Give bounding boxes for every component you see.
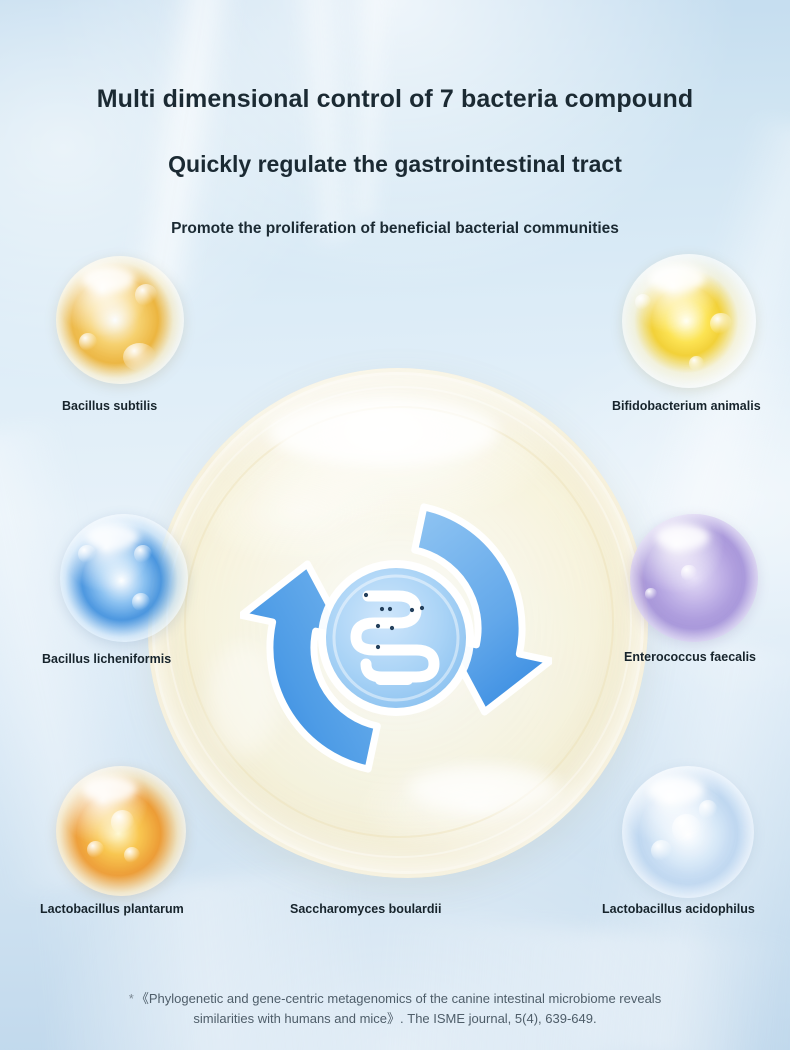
citation-line-1: 《Phylogenetic and gene-centric metagenom… <box>136 991 661 1006</box>
bacteria-sphere-enterococcus-faecalis <box>630 514 758 642</box>
sphere-bubble <box>124 847 141 864</box>
sphere-bubble <box>132 593 150 611</box>
bacteria-sphere-bacillus-subtilis <box>56 256 184 384</box>
bacteria-sphere-bifidobacterium-animalis <box>622 254 756 388</box>
probiotic-infographic-poster: Multi dimensional control of 7 bacteria … <box>0 0 790 1050</box>
bacteria-sphere-bacillus-licheniformis <box>60 514 188 642</box>
citation-line-2: similarities with humans and mice》. The … <box>193 1011 596 1026</box>
headline-secondary: Quickly regulate the gastrointestinal tr… <box>0 151 790 178</box>
sphere-highlight <box>86 524 140 550</box>
sphere-bubble <box>123 343 156 371</box>
sphere-highlight <box>648 777 703 803</box>
sphere-bubble <box>645 588 657 600</box>
label-lactobacillus-acidophilus: Lactobacillus acidophilus <box>602 902 755 916</box>
sphere-bubble <box>78 545 96 563</box>
sphere-highlight <box>656 524 710 550</box>
label-bacillus-licheniformis: Bacillus licheniformis <box>42 652 171 666</box>
label-bifidobacterium-animalis: Bifidobacterium animalis <box>612 399 761 413</box>
bacteria-sphere-lactobacillus-acidophilus <box>622 766 754 898</box>
sphere-bubble <box>79 333 97 351</box>
sphere-bubble <box>672 814 701 843</box>
label-saccharomyces-boulardii: Saccharomyces boulardii <box>290 902 441 916</box>
citation-marker: * <box>129 991 134 1006</box>
sphere-highlight <box>82 776 137 802</box>
bacteria-sphere-lactobacillus-plantarum <box>56 766 186 896</box>
sphere-bubble <box>710 313 731 334</box>
label-lactobacillus-plantarum: Lactobacillus plantarum <box>40 902 184 916</box>
sphere-bubble <box>135 284 157 306</box>
sphere-bubble <box>134 545 152 563</box>
citation: *《Phylogenetic and gene-centric metageno… <box>0 989 790 1029</box>
sphere-bubble <box>111 810 134 833</box>
sphere-bubble <box>689 356 704 371</box>
headline-tertiary: Promote the proliferation of beneficial … <box>0 220 790 238</box>
background-wisp <box>374 916 790 1050</box>
sphere-bubble <box>87 841 104 858</box>
sphere-bubble <box>635 294 651 310</box>
sphere-highlight <box>82 266 136 292</box>
sphere-highlight <box>268 399 498 465</box>
label-enterococcus-faecalis: Enterococcus faecalis <box>624 650 756 664</box>
sphere-highlight <box>649 265 705 292</box>
recycle-arrows-gut-icon <box>240 488 552 788</box>
heading-block: Multi dimensional control of 7 bacteria … <box>0 0 790 238</box>
sphere-bubble <box>651 840 672 861</box>
sphere-bubble <box>699 800 717 818</box>
label-bacillus-subtilis: Bacillus subtilis <box>62 399 157 413</box>
headline-primary: Multi dimensional control of 7 bacteria … <box>0 85 790 114</box>
sphere-bubble <box>681 565 696 580</box>
